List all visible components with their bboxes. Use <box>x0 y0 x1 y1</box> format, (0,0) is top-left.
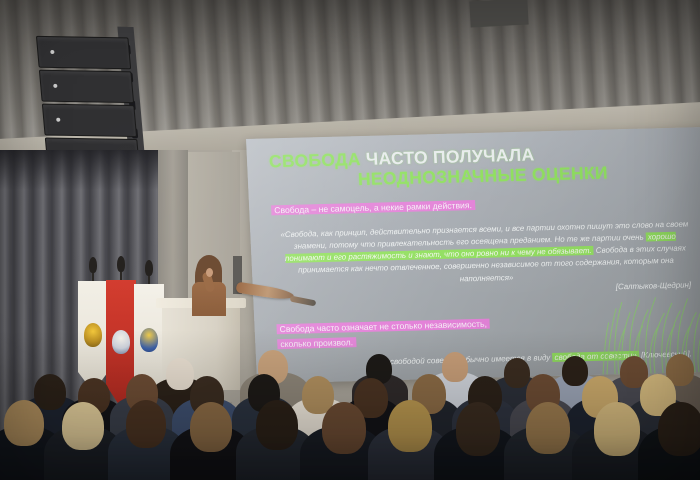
speaker-cabinet <box>36 36 131 69</box>
audience-member <box>658 402 700 456</box>
audience-member <box>322 402 366 454</box>
audience-member <box>62 402 104 450</box>
audience-member <box>34 374 66 410</box>
presenter <box>178 258 238 318</box>
audience-member <box>504 358 530 388</box>
audience <box>0 330 700 480</box>
auditorium-photo: СВОБОДА ЧАСТО ПОЛУЧАЛА НЕОДНОЗНАЧНЫЕ ОЦЕ… <box>0 0 700 480</box>
audience-member <box>562 356 588 386</box>
speaker-cabinet <box>39 70 134 103</box>
audience-member <box>256 400 298 450</box>
curtain-top-shadow <box>0 150 158 190</box>
speaker-cabinet <box>42 104 137 137</box>
slide-title-keyword: СВОБОДА <box>269 149 362 171</box>
audience-member <box>594 402 640 456</box>
flag-finial <box>117 256 125 272</box>
ceiling-speaker-small <box>469 0 528 27</box>
audience-member <box>190 402 232 452</box>
lead-1-highlight: Свобода – не самоцель, а некие рамки дей… <box>271 200 475 215</box>
slide-title: СВОБОДА ЧАСТО ПОЛУЧАЛА НЕОДНОЗНАЧНЫЕ ОЦЕ… <box>269 141 700 191</box>
flag-finial <box>145 260 153 276</box>
audience-member <box>526 402 570 454</box>
slide-lead-1: Свобода – не самоцель, а некие рамки дей… <box>271 192 700 217</box>
audience-member <box>388 400 432 452</box>
flag-finial <box>89 257 97 273</box>
audience-member <box>126 400 166 448</box>
audience-member <box>456 402 500 456</box>
audience-member <box>442 352 468 382</box>
audience-member <box>4 400 44 446</box>
audience-member <box>166 358 194 390</box>
presenter-hand-near-face <box>206 268 213 277</box>
